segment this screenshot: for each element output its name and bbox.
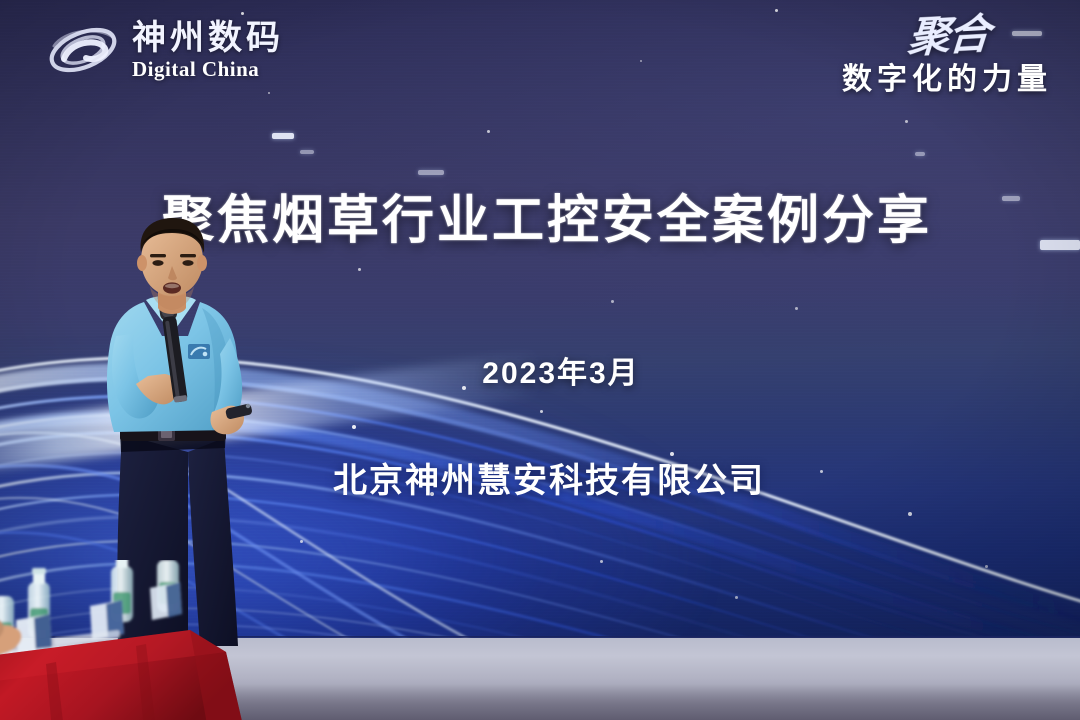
event-theme-logo: 聚合 数字化的力量 (842, 16, 1052, 98)
event-tagline: 数字化的力量 (842, 54, 1052, 98)
event-calligraphy: 聚合 (906, 14, 989, 60)
brand-name-english: Digital China (132, 59, 284, 80)
name-card (150, 582, 182, 620)
conference-stage-photo: 神州数码 Digital China 聚合 数字化的力量 聚焦烟草行业工控安全案… (0, 0, 1080, 720)
polo-chest-logo (188, 344, 210, 359)
digital-china-logo: 神州数码 Digital China (44, 18, 284, 82)
panel-table-red-skirt (0, 560, 266, 720)
brand-name-chinese: 神州数码 (132, 21, 284, 55)
spiral-swirl-icon (44, 18, 122, 82)
